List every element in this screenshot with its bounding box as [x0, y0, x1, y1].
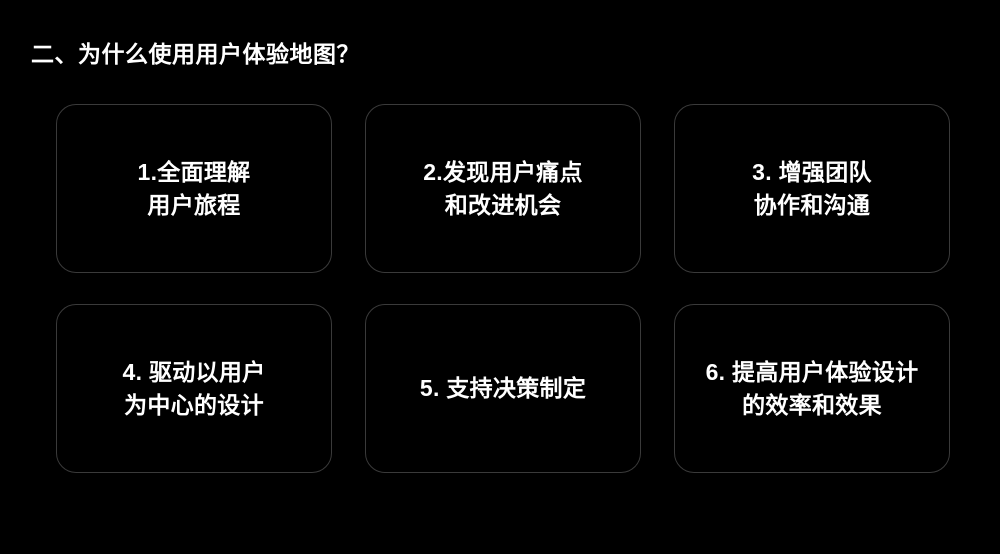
benefit-card-5[interactable]: 5. 支持决策制定: [365, 304, 641, 473]
benefit-card-2[interactable]: 2.发现用户痛点 和改进机会: [365, 104, 641, 273]
benefit-card-4[interactable]: 4. 驱动以用户 为中心的设计: [56, 304, 332, 473]
benefit-card-3-label: 3. 增强团队 协作和沟通: [752, 156, 872, 221]
benefit-card-1-label: 1.全面理解 用户旅程: [138, 156, 251, 221]
benefit-card-4-label: 4. 驱动以用户 为中心的设计: [123, 356, 266, 421]
benefit-card-3[interactable]: 3. 增强团队 协作和沟通: [674, 104, 950, 273]
benefit-card-5-label: 5. 支持决策制定: [420, 372, 586, 405]
benefit-card-grid: 1.全面理解 用户旅程 2.发现用户痛点 和改进机会 3. 增强团队 协作和沟通…: [56, 104, 945, 473]
slide-canvas: 二、为什么使用用户体验地图？ 1.全面理解 用户旅程 2.发现用户痛点 和改进机…: [0, 0, 1000, 554]
page-title: 二、为什么使用用户体验地图？: [31, 40, 360, 69]
benefit-card-6-label: 6. 提高用户体验设计 的效率和效果: [706, 356, 919, 421]
benefit-card-6[interactable]: 6. 提高用户体验设计 的效率和效果: [674, 304, 950, 473]
benefit-card-1[interactable]: 1.全面理解 用户旅程: [56, 104, 332, 273]
benefit-card-2-label: 2.发现用户痛点 和改进机会: [423, 156, 583, 221]
